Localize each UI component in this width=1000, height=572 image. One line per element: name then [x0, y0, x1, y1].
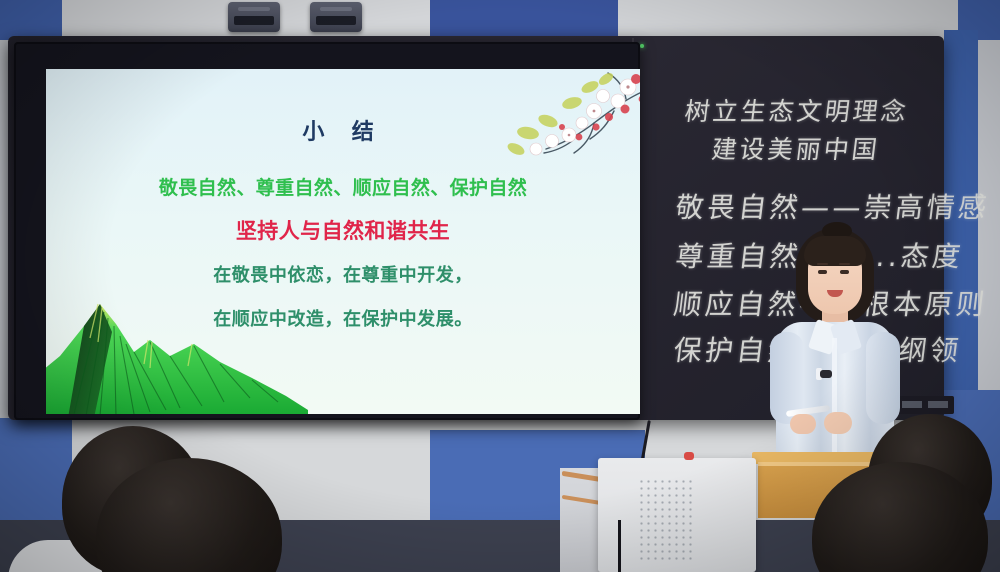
- slide-line-teal-1: 在敬畏中依恋，在尊重中开发，: [46, 261, 640, 287]
- speaker-grille-icon: [638, 478, 694, 564]
- chalk-line-2: 建设美丽中国: [710, 130, 882, 166]
- red-marker-object: [684, 452, 694, 460]
- teacher-shirt-placket: [832, 338, 837, 468]
- teacher-hand-left: [790, 414, 816, 434]
- teacher-eyebrow-right: [839, 263, 850, 265]
- teacher-sleeve-right: [866, 332, 900, 424]
- lapel-mic-icon: [820, 370, 832, 378]
- power-led-icon: [640, 44, 644, 48]
- slide-title: 小 结: [46, 114, 640, 146]
- chalk-line-1: 树立生态文明理念: [683, 92, 911, 128]
- slide-line-red-headline: 坚持人与自然和谐共生: [46, 215, 640, 245]
- wall-panel-blue-top-middle: [430, 0, 618, 40]
- wall-speaker-right-icon: [310, 2, 362, 32]
- chalk-line-3: 敬畏自然——崇高情感: [674, 186, 993, 226]
- blackboard-brand-label: [898, 396, 954, 414]
- presentation-slide[interactable]: 小 结 敬畏自然、尊重自然、顺应自然、保护自然 坚持人与自然和谐共生 在敬畏中依…: [46, 69, 640, 414]
- wall-panel-blue-top-left: [0, 0, 62, 40]
- slide-line-green-keywords: 敬畏自然、尊重自然、顺应自然、保护自然: [46, 173, 640, 200]
- slide-line-teal-2: 在顺应中改造，在保护中发展。: [46, 305, 640, 331]
- teacher-eyebrow-left: [817, 263, 828, 265]
- wall-panel-grey-top-right: [618, 0, 958, 40]
- teacher-hand-right: [824, 412, 852, 434]
- teacher-eye-right: [840, 270, 849, 274]
- led-display-bezel: 小 结 敬畏自然、尊重自然、顺应自然、保护自然 坚持人与自然和谐共生 在敬畏中依…: [14, 42, 640, 420]
- wall-speaker-left-icon: [228, 2, 280, 32]
- teacher-eye-left: [818, 270, 827, 274]
- speaker-cabinet-side: [560, 468, 602, 572]
- teacher-hair-front: [804, 236, 866, 266]
- classroom-scene: 树立生态文明理念 建设美丽中国 敬畏自然——崇高情感 尊重自然——...态度 顺…: [0, 0, 1000, 572]
- floor-cable: [618, 520, 621, 572]
- wall-panel-blue-right-strip: [944, 30, 978, 430]
